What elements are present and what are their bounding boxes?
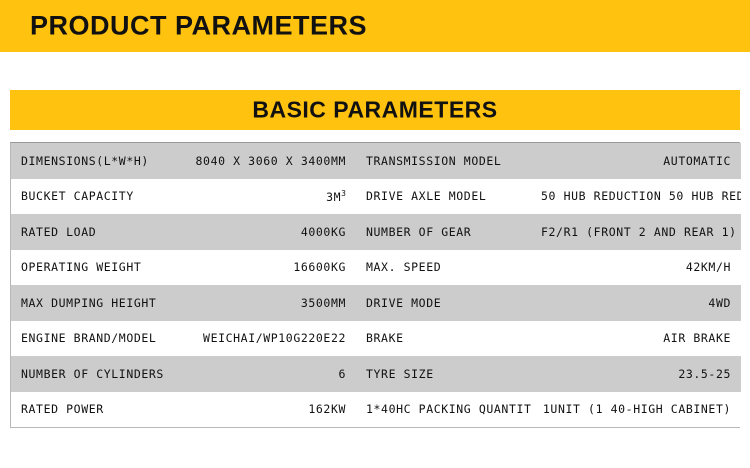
- spec-label-right: TYRE SIZE: [356, 356, 531, 392]
- superscript-unit: 3: [341, 189, 346, 198]
- spec-value-left: 162KW: [181, 392, 356, 428]
- specifications-table-container: DIMENSIONS(L*W*H)8040 X 3060 X 3400MMTRA…: [10, 142, 740, 428]
- spec-value-left: 3M3: [181, 179, 356, 215]
- spec-value-left: 6: [181, 356, 356, 392]
- table-row: MAX DUMPING HEIGHT3500MMDRIVE MODE4WD: [11, 285, 741, 321]
- spec-label-left: NUMBER OF CYLINDERS: [11, 356, 181, 392]
- product-parameters-page: PRODUCT PARAMETERS BASIC PARAMETERS DIME…: [0, 0, 750, 468]
- spec-value-right: 42KM/H: [531, 250, 741, 286]
- spec-value-left: WEICHAI/WP10G220E22: [181, 321, 356, 357]
- spec-value-right: 23.5-25: [531, 356, 741, 392]
- spec-value-right: 4WD: [531, 285, 741, 321]
- spec-value-right: 50 HUB REDUCTION 50 HUB REDUCTION: [531, 179, 741, 215]
- table-row: ENGINE BRAND/MODELWEICHAI/WP10G220E22BRA…: [11, 321, 741, 357]
- table-row: BUCKET CAPACITY3M3DRIVE AXLE MODEL50 HUB…: [11, 179, 741, 215]
- section-header-banner: BASIC PARAMETERS: [10, 90, 740, 130]
- spec-label-left: DIMENSIONS(L*W*H): [11, 143, 181, 179]
- spec-value-right: AUTOMATIC: [531, 143, 741, 179]
- spec-value-left: 8040 X 3060 X 3400MM: [181, 143, 356, 179]
- spec-label-left: RATED POWER: [11, 392, 181, 428]
- spec-value-left: 4000KG: [181, 214, 356, 250]
- specifications-table: DIMENSIONS(L*W*H)8040 X 3060 X 3400MMTRA…: [11, 143, 741, 427]
- spec-value-right: AIR BRAKE: [531, 321, 741, 357]
- specifications-table-body: DIMENSIONS(L*W*H)8040 X 3060 X 3400MMTRA…: [11, 143, 741, 427]
- spec-label-right: BRAKE: [356, 321, 531, 357]
- spec-label-left: RATED LOAD: [11, 214, 181, 250]
- spec-label-right: MAX. SPEED: [356, 250, 531, 286]
- spec-label-right: DRIVE AXLE MODEL: [356, 179, 531, 215]
- table-row: OPERATING WEIGHT16600KGMAX. SPEED42KM/H: [11, 250, 741, 286]
- spec-label-left: ENGINE BRAND/MODEL: [11, 321, 181, 357]
- spec-value-right: 1UNIT (1 40-HIGH CABINET): [531, 392, 741, 428]
- page-header-banner: PRODUCT PARAMETERS: [0, 0, 750, 52]
- section-title: BASIC PARAMETERS: [10, 97, 740, 124]
- spec-label-right: TRANSMISSION MODEL: [356, 143, 531, 179]
- table-row: NUMBER OF CYLINDERS6TYRE SIZE23.5-25: [11, 356, 741, 392]
- spec-label-right: 1*40HC PACKING QUANTITY: [356, 392, 531, 428]
- spec-label-left: BUCKET CAPACITY: [11, 179, 181, 215]
- page-title: PRODUCT PARAMETERS: [30, 11, 367, 42]
- spec-label-right: NUMBER OF GEAR: [356, 214, 531, 250]
- spec-value-left: 3500MM: [181, 285, 356, 321]
- spec-label-left: OPERATING WEIGHT: [11, 250, 181, 286]
- spec-label-left: MAX DUMPING HEIGHT: [11, 285, 181, 321]
- spec-value-left: 16600KG: [181, 250, 356, 286]
- table-row: RATED LOAD4000KGNUMBER OF GEARF2/R1 (FRO…: [11, 214, 741, 250]
- table-row: RATED POWER162KW1*40HC PACKING QUANTITY1…: [11, 392, 741, 428]
- spec-value-right: F2/R1 (FRONT 2 AND REAR 1): [531, 214, 741, 250]
- spec-label-right: DRIVE MODE: [356, 285, 531, 321]
- table-row: DIMENSIONS(L*W*H)8040 X 3060 X 3400MMTRA…: [11, 143, 741, 179]
